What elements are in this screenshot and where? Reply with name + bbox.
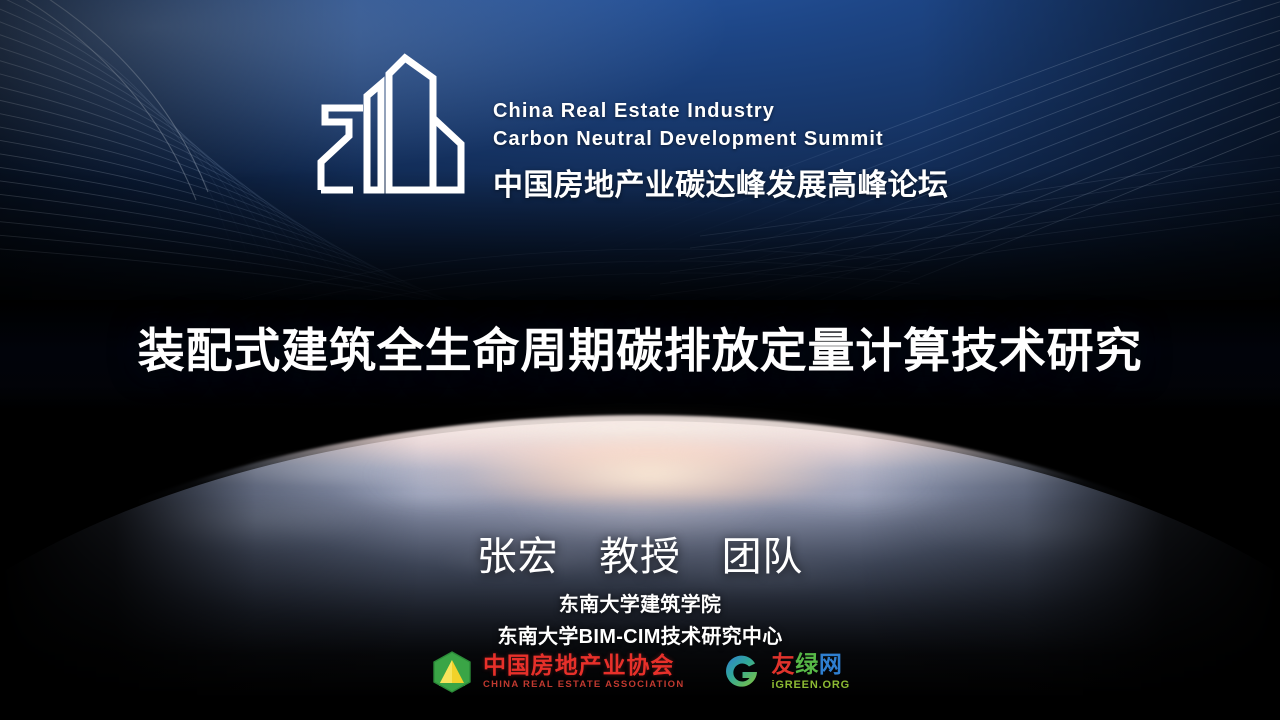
title-slide: China Real Estate Industry Carbon Neutra… [0,0,1280,720]
igreen-logo: 友绿网 iGREEN.ORG [722,652,850,692]
page-title: 装配式建筑全生命周期碳排放定量计算技术研究 [0,312,1280,381]
summit-logo-lockup: China Real Estate Industry Carbon Neutra… [305,34,948,214]
igreen-chinese-name: 友绿网 [771,653,850,676]
crea-chinese-name: 中国房地产业协会 [483,654,685,677]
presenter-affiliation-1: 东南大学建筑学院 [0,588,1280,617]
presenter-name: 张宏 教授 团队 [0,524,1280,582]
presenter-affiliation-2: 东南大学BIM-CIM技术研究中心 [0,620,1280,649]
summit-logo-english-line2: Carbon Neutral Development Summit [493,126,948,154]
crea-logo: 中国房地产业协会 CHINA REAL ESTATE ASSOCIATION [430,650,685,694]
summit-logo-english-line1: China Real Estate Industry [493,98,948,126]
g-letter-icon [722,652,762,692]
igreen-english-name: iGREEN.ORG [771,680,850,691]
igreen-cn-char-1: 友 [771,651,795,677]
footer-logo-bar: 中国房地产业协会 CHINA REAL ESTATE ASSOCIATION 友… [0,648,1280,696]
crea-english-name: CHINA REAL ESTATE ASSOCIATION [483,680,685,690]
hexagon-pavilion-icon [430,650,474,694]
summit-logo-chinese: 中国房地产业碳达峰发展高峰论坛 [493,160,948,204]
presenter-block: 张宏 教授 团队 东南大学建筑学院 东南大学BIM-CIM技术研究中心 [0,524,1280,649]
igreen-cn-char-3: 网 [819,651,843,677]
igreen-cn-char-2: 绿 [795,651,819,677]
summit-building-logo-icon [305,34,477,214]
